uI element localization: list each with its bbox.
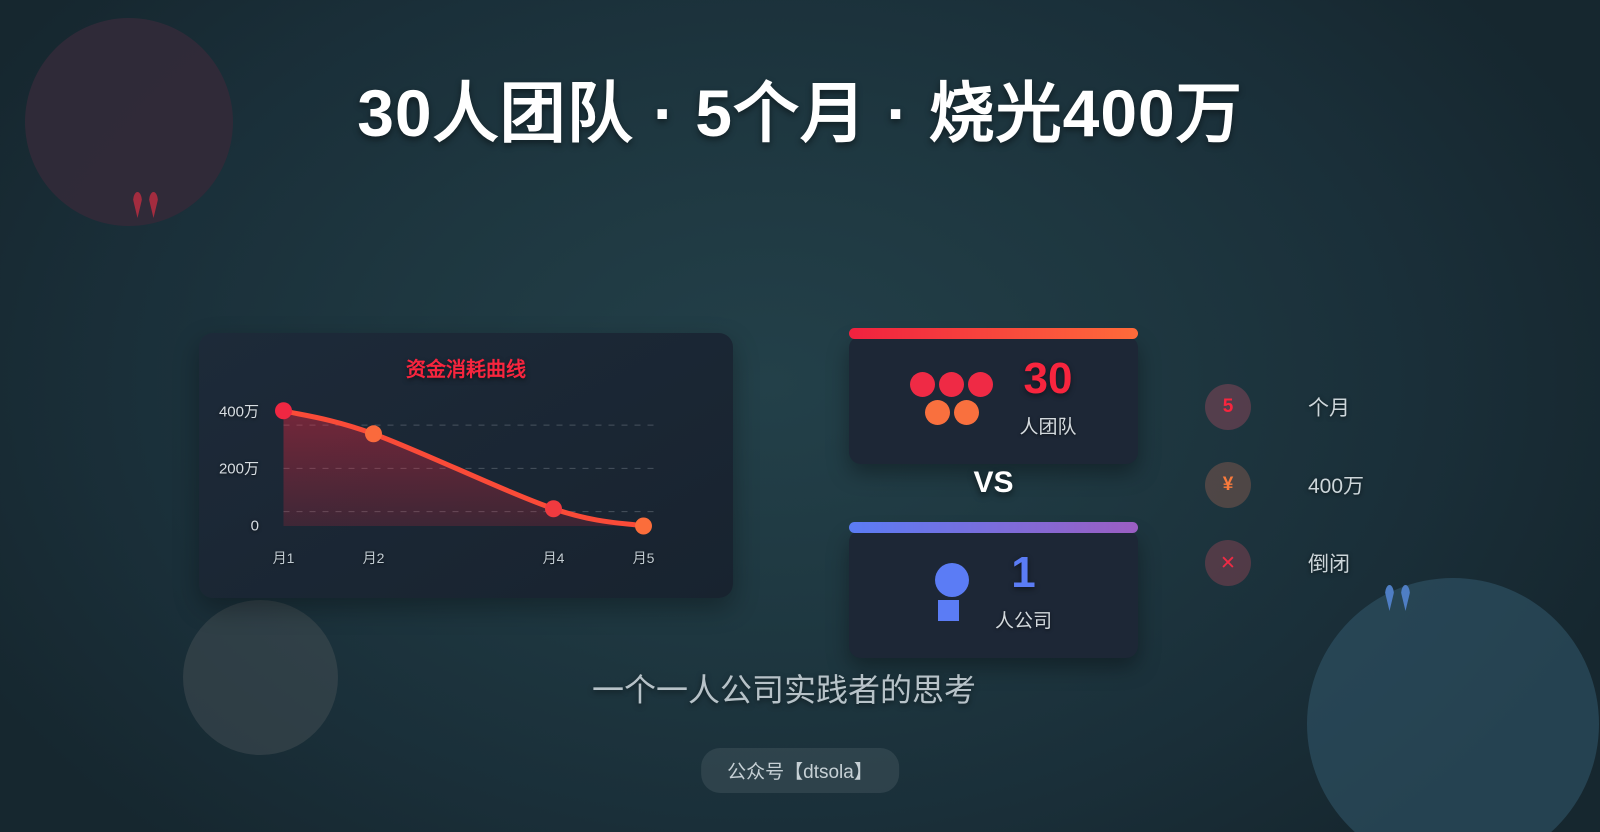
solo-count-label: 人公司 [995,606,1052,633]
x-axis-tick-label: 月1 [273,548,295,568]
single-person-icon [935,563,969,621]
team-card-accent-bar [849,328,1138,339]
stat-row: ✕倒闭 [1205,524,1364,602]
subtitle: 一个一人公司实践者的思考 [0,665,1568,711]
stat-row: 5个月 [1205,368,1364,446]
number-five-icon: 5 [1205,384,1251,430]
person-dot [925,400,950,425]
solo-comparison-card[interactable]: 1 人公司 [849,530,1138,658]
decorative-drops-bottom-right [1385,585,1410,611]
summary-stat-list: 5个月¥400万✕倒闭 [1205,368,1364,602]
solo-card-accent-bar [849,522,1138,533]
yen-currency-icon: ¥ [1205,462,1251,508]
person-dot [954,400,979,425]
y-axis-tick-label: 200万 [219,458,259,479]
person-body [938,600,959,621]
people-group-icon [910,372,993,425]
funding-burn-chart-card: 资金消耗曲线 0200万400万月1月2月4月5 [199,333,733,598]
solo-count-value: 1 [1011,551,1035,595]
team-count-label: 人团队 [1019,412,1076,439]
drop-shape-icon [133,192,142,218]
decorative-drops-top-left [133,192,158,218]
close-cross-icon: ✕ [1205,540,1251,586]
person-dot [968,372,993,397]
drop-shape-icon [1385,585,1394,611]
team-comparison-card[interactable]: 30 人团队 [849,336,1138,464]
stat-label: 个月 [1308,392,1350,422]
drop-shape-icon [149,192,158,218]
x-axis-tick-label: 月2 [363,548,385,568]
page-title: 30人团队 · 5个月 · 烧光400万 [0,60,1600,156]
stat-label: 400万 [1308,470,1364,500]
person-head [935,563,969,597]
drop-shape-icon [1401,585,1410,611]
vs-divider-label: VS [849,466,1138,500]
stat-label: 倒闭 [1308,548,1350,578]
y-axis-tick-label: 400万 [219,400,259,421]
x-axis-tick-label: 月5 [633,548,655,568]
person-dot [939,372,964,397]
stat-row: ¥400万 [1205,446,1364,524]
x-axis-tick-label: 月4 [543,548,565,568]
wechat-account-badge: 公众号【dtsola】 [701,748,899,793]
person-dot [910,372,935,397]
team-count-value: 30 [1024,357,1073,401]
y-axis-tick-label: 0 [251,518,259,535]
chart-plot-area: 0200万400万月1月2月4月5 [199,333,733,598]
